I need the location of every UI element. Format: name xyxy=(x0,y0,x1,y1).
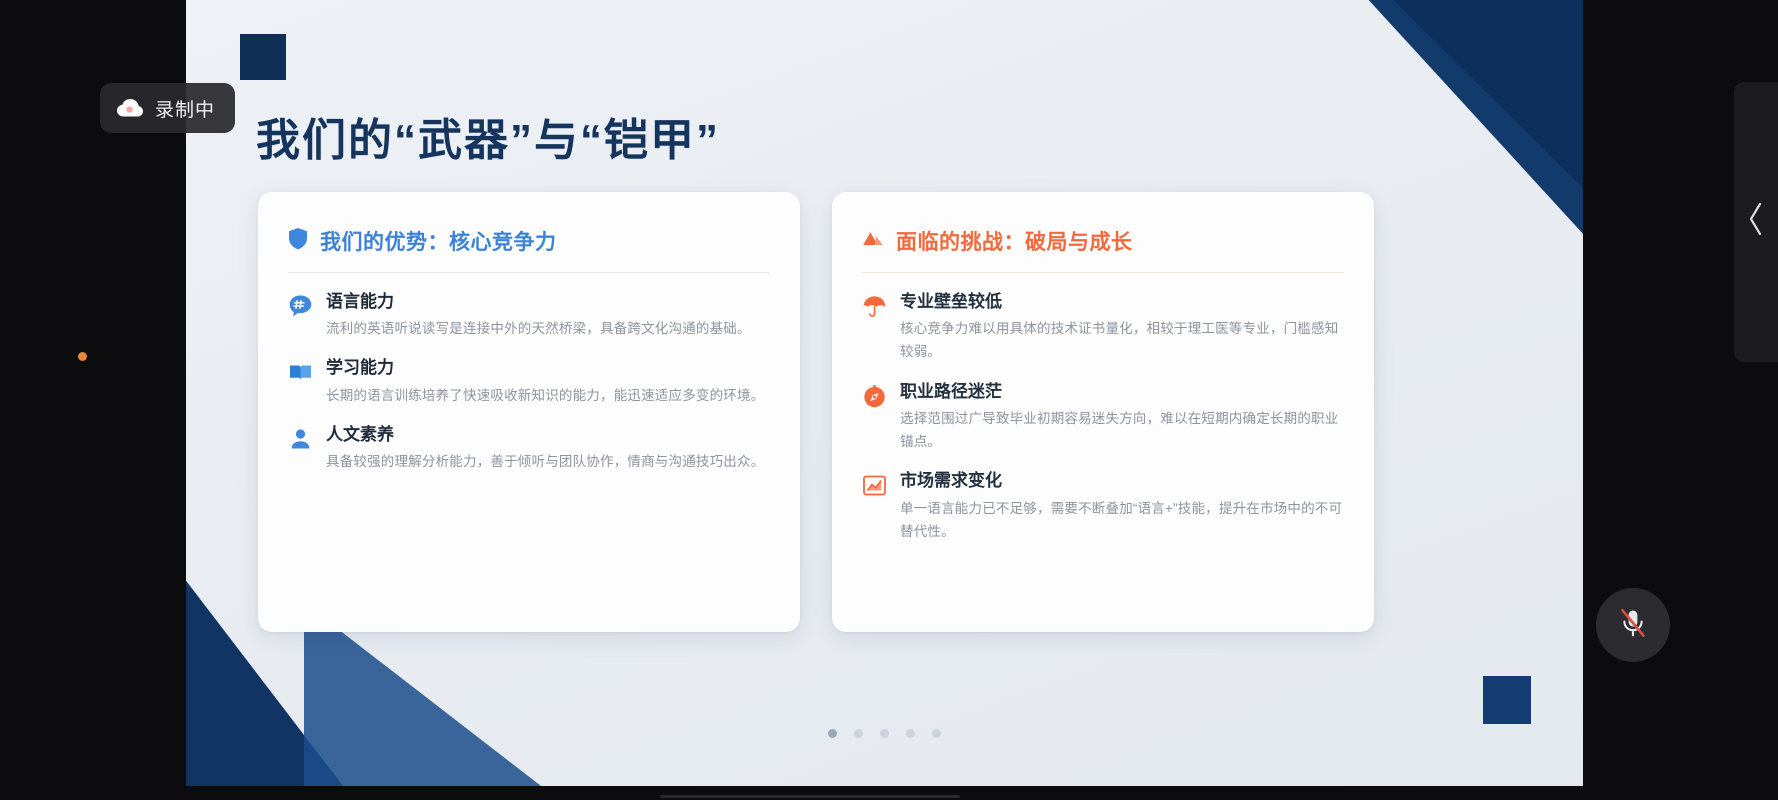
item-description: 选择范围过广导致毕业初期容易迷失方向，难以在短期内确定长期的职业锚点。 xyxy=(900,407,1344,453)
item-description: 单一语言能力已不足够，需要不断叠加“语言+”技能，提升在市场中的不可替代性。 xyxy=(900,497,1344,543)
card-challenges-header: 面临的挑战：破局与成长 xyxy=(862,226,1344,272)
card-advantages: 我们的优势：核心竞争力 语言能力 流利的英语听说读写是连接中外的天然桥梁，具备跨… xyxy=(258,192,800,632)
chat-hash-icon xyxy=(288,294,313,319)
list-item: 人文素养 具备较强的理解分析能力，善于倾听与团队协作，情商与沟通技巧出众。 xyxy=(288,424,770,473)
card-advantages-title: 我们的优势：核心竞争力 xyxy=(320,226,557,256)
pagination-dot-3[interactable] xyxy=(880,729,889,738)
microphone-muted-icon xyxy=(1615,605,1651,646)
pagination-dot-1[interactable] xyxy=(828,729,837,738)
item-description: 核心竞争力难以用具体的技术证书量化，相较于理工医等专业，门槛感知较弱。 xyxy=(900,317,1344,363)
recording-badge[interactable]: 录制中 xyxy=(100,83,235,133)
item-title: 专业壁垒较低 xyxy=(900,291,1344,312)
recording-label: 录制中 xyxy=(155,95,215,122)
list-item: 专业壁垒较低 核心竞争力难以用具体的技术证书量化，相较于理工医等专业，门槛感知较… xyxy=(862,291,1344,364)
item-title: 学习能力 xyxy=(326,357,770,378)
item-description: 流利的英语听说读写是连接中外的天然桥梁，具备跨文化沟通的基础。 xyxy=(326,317,770,340)
item-description: 长期的语言训练培养了快速吸收新知识的能力，能迅速适应多变的环境。 xyxy=(326,384,770,407)
pagination-dot-5[interactable] xyxy=(932,729,941,738)
compass-icon xyxy=(862,384,887,409)
divider xyxy=(862,272,1344,273)
scrollbar[interactable] xyxy=(660,795,960,798)
item-description: 具备较强的理解分析能力，善于倾听与团队协作，情商与沟通技巧出众。 xyxy=(326,450,770,473)
item-title: 人文素养 xyxy=(326,424,770,445)
card-challenges-title: 面临的挑战：破局与成长 xyxy=(896,226,1133,256)
pagination-dot-4[interactable] xyxy=(906,729,915,738)
chart-up-icon xyxy=(862,473,887,498)
list-item: 学习能力 长期的语言训练培养了快速吸收新知识的能力，能迅速适应多变的环境。 xyxy=(288,357,770,406)
item-title: 语言能力 xyxy=(326,291,770,312)
cards-container: 我们的优势：核心竞争力 语言能力 流利的英语听说读写是连接中外的天然桥梁，具备跨… xyxy=(258,192,1374,632)
mountain-icon xyxy=(862,230,884,253)
decoration-bottom-right-square xyxy=(1483,676,1531,724)
card-challenges: 面临的挑战：破局与成长 专业壁垒较低 核心竞争力难以用具体的技术证书量化，相较于… xyxy=(832,192,1374,632)
umbrella-icon xyxy=(862,294,887,319)
decoration-top-left-square xyxy=(240,34,286,80)
slide-title: 我们的“武器”与“铠甲” xyxy=(256,104,720,168)
microphone-mute-button[interactable] xyxy=(1596,588,1670,662)
open-book-icon xyxy=(288,360,313,385)
presentation-slide[interactable]: 我们的“武器”与“铠甲” 我们的优势：核心竞争力 语言能力 xyxy=(186,0,1583,786)
list-item: 职业路径迷茫 选择范围过广导致毕业初期容易迷失方向，难以在短期内确定长期的职业锚… xyxy=(862,381,1344,454)
item-title: 市场需求变化 xyxy=(900,470,1344,491)
divider xyxy=(288,272,770,273)
list-item: 语言能力 流利的英语听说读写是连接中外的天然桥梁，具备跨文化沟通的基础。 xyxy=(288,291,770,340)
cloud-icon xyxy=(116,98,144,118)
slide-pagination[interactable] xyxy=(186,729,1583,738)
list-item: 市场需求变化 单一语言能力已不足够，需要不断叠加“语言+”技能，提升在市场中的不… xyxy=(862,470,1344,543)
pagination-dot-2[interactable] xyxy=(854,729,863,738)
shield-icon xyxy=(288,227,308,255)
person-icon xyxy=(288,427,313,452)
side-panel-toggle[interactable] xyxy=(1734,82,1778,362)
screen-share-stage: 我们的“武器”与“铠甲” 我们的优势：核心竞争力 语言能力 xyxy=(0,0,1778,800)
status-dot xyxy=(78,352,87,361)
card-advantages-header: 我们的优势：核心竞争力 xyxy=(288,226,770,272)
item-title: 职业路径迷茫 xyxy=(900,381,1344,402)
chevron-left-icon xyxy=(1748,202,1765,243)
